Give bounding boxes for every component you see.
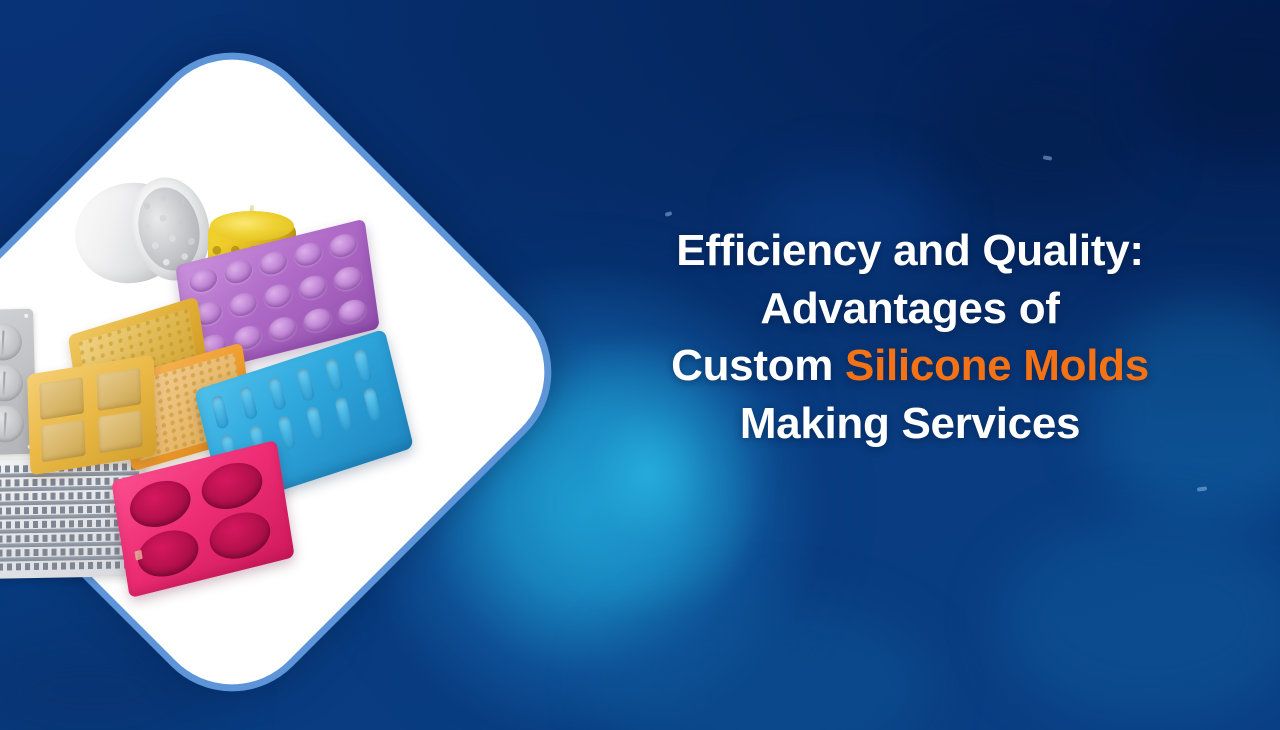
headline-line-4: Making Services (600, 395, 1220, 453)
product-photo-collage (0, 20, 570, 710)
background-blotch (1000, 520, 1280, 720)
background-blotch (930, 60, 1150, 210)
promo-banner: Efficiency and Quality: Advantages of Cu… (0, 0, 1280, 730)
headline-line-2: Advantages of (600, 280, 1220, 338)
headline-line-3: Custom Silicone Molds (600, 337, 1220, 395)
headline-line-1: Efficiency and Quality: (600, 222, 1220, 280)
yellow-quad-square-mold-product (27, 355, 157, 476)
candle-top (210, 211, 294, 241)
product-photo-diamond (0, 20, 570, 710)
headline-line-3-prefix: Custom (671, 341, 845, 390)
headline: Efficiency and Quality: Advantages of Cu… (600, 222, 1220, 453)
mold-label-tag (135, 550, 143, 561)
headline-accent-silicone-molds: Silicone Molds (845, 341, 1149, 390)
